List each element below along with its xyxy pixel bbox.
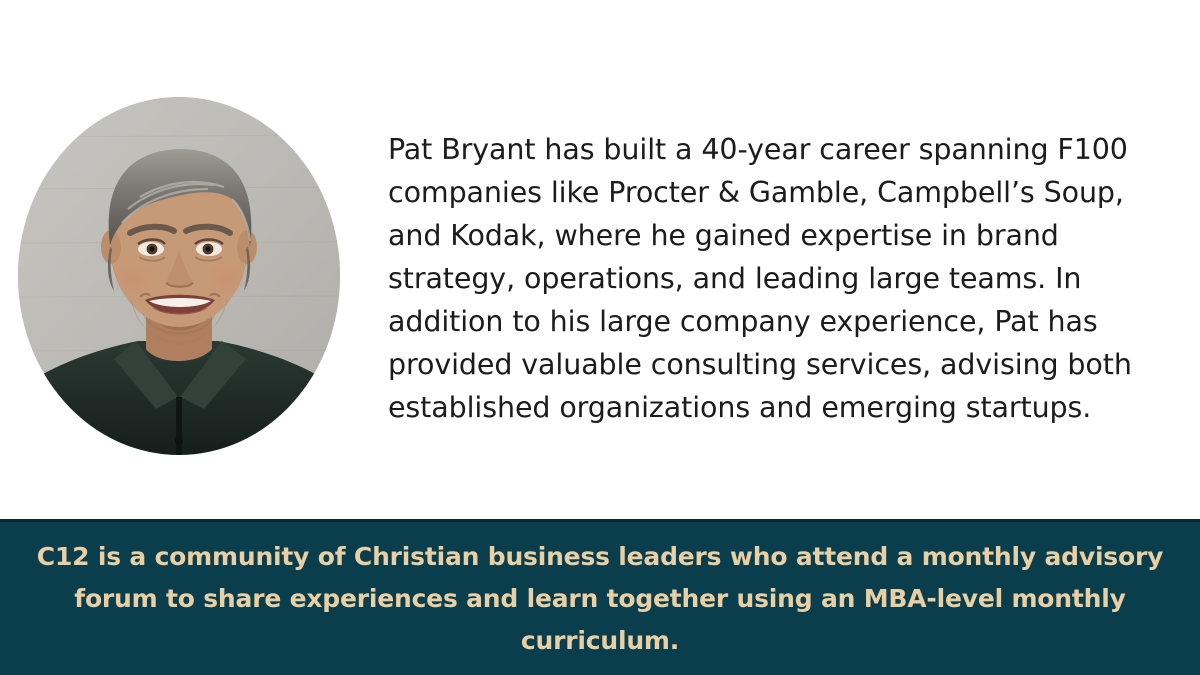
bio-paragraph-block: Pat Bryant has built a 40-year career sp… xyxy=(388,128,1160,429)
portrait-image xyxy=(18,97,340,455)
footer-banner: C12 is a community of Christian business… xyxy=(0,519,1200,675)
bio-paragraph: Pat Bryant has built a 40-year career sp… xyxy=(388,128,1160,429)
speaker-bio-card: Pat Bryant has built a 40-year career sp… xyxy=(0,0,1200,675)
content-area: Pat Bryant has built a 40-year career sp… xyxy=(0,0,1200,519)
footer-banner-text: C12 is a community of Christian business… xyxy=(35,536,1165,662)
footer-banner-inner: C12 is a community of Christian business… xyxy=(35,536,1165,662)
avatar xyxy=(18,97,340,455)
